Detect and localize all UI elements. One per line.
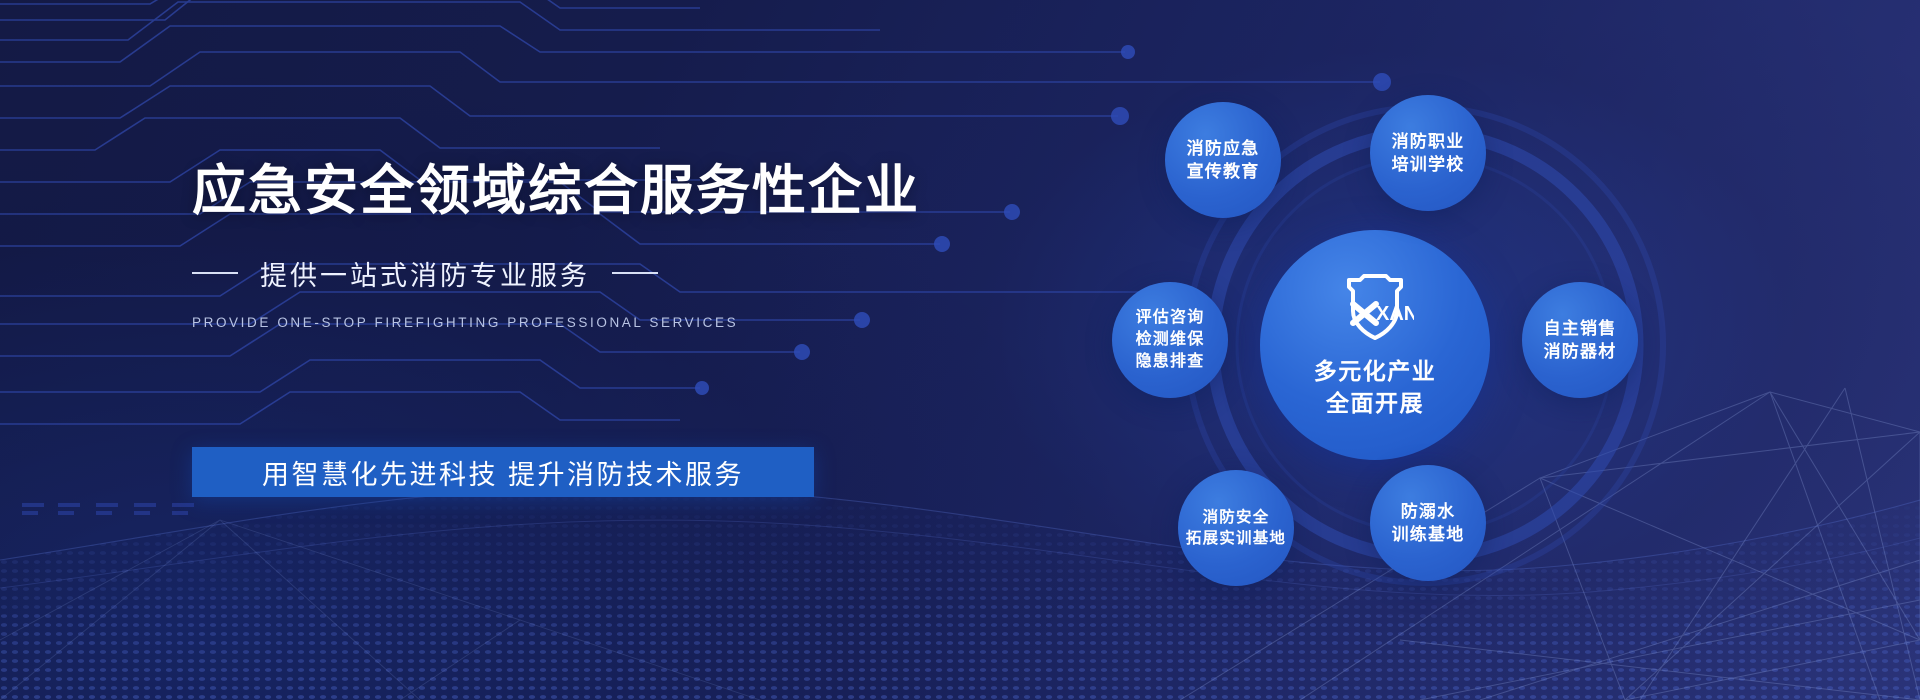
node-line-3: 隐患排查 — [1136, 351, 1205, 373]
hero-banner: 应急安全领域综合服务性企业 提供一站式消防专业服务 PROVIDE ONE-ST… — [0, 0, 1920, 700]
services-orbit-diagram: XAN 多元化产业 全面开展 消防应急 宣传教育 消防职业 培训学校 评估咨询 … — [1085, 60, 1765, 640]
node-line-1: 防溺水 — [1401, 500, 1456, 523]
page-title: 应急安全领域综合服务性企业 — [192, 160, 952, 224]
node-line-1: 消防职业 — [1392, 130, 1465, 153]
node-fire-vocational-school[interactable]: 消防职业 培训学校 — [1370, 95, 1486, 211]
node-line-1: 消防安全 — [1203, 507, 1270, 528]
node-fire-safety-training-base[interactable]: 消防安全 拓展实训基地 — [1178, 470, 1294, 586]
node-line-2: 宣传教育 — [1187, 160, 1260, 183]
node-line-2: 拓展实训基地 — [1186, 528, 1286, 549]
node-line-2: 消防器材 — [1544, 340, 1617, 363]
node-line-1: 消防应急 — [1187, 137, 1260, 160]
node-line-2: 训练基地 — [1392, 523, 1465, 546]
divider-right-icon — [612, 272, 658, 274]
node-anti-drowning-base[interactable]: 防溺水 训练基地 — [1370, 465, 1486, 581]
center-line-2: 全面开展 — [1326, 388, 1424, 420]
hero-copy: 应急安全领域综合服务性企业 提供一站式消防专业服务 PROVIDE ONE-ST… — [192, 160, 952, 330]
svg-text:XAN: XAN — [1376, 303, 1414, 325]
node-line-2: 培训学校 — [1392, 153, 1465, 176]
node-line-1: 评估咨询 — [1136, 307, 1205, 329]
hero-subtitle: 提供一站式消防专业服务 — [192, 254, 952, 293]
node-line-1: 自主销售 — [1544, 317, 1617, 340]
hero-subtitle-english: PROVIDE ONE-STOP FIREFIGHTING PROFESSION… — [192, 315, 952, 330]
xan-shield-logo-icon: XAN — [1336, 271, 1414, 348]
center-line-1: 多元化产业 — [1314, 356, 1437, 388]
node-line-2: 检测维保 — [1136, 329, 1205, 351]
diagram-center-node[interactable]: XAN 多元化产业 全面开展 — [1260, 230, 1490, 460]
node-equipment-sales[interactable]: 自主销售 消防器材 — [1522, 282, 1638, 398]
node-assessment-consulting[interactable]: 评估咨询 检测维保 隐患排查 — [1112, 282, 1228, 398]
hero-subtitle-text: 提供一站式消防专业服务 — [260, 254, 590, 293]
divider-left-icon — [192, 272, 238, 274]
node-fire-emergency-education[interactable]: 消防应急 宣传教育 — [1165, 102, 1281, 218]
cta-banner-button[interactable]: 用智慧化先进科技 提升消防技术服务 — [192, 447, 814, 497]
cta-label: 用智慧化先进科技 提升消防技术服务 — [262, 453, 744, 492]
